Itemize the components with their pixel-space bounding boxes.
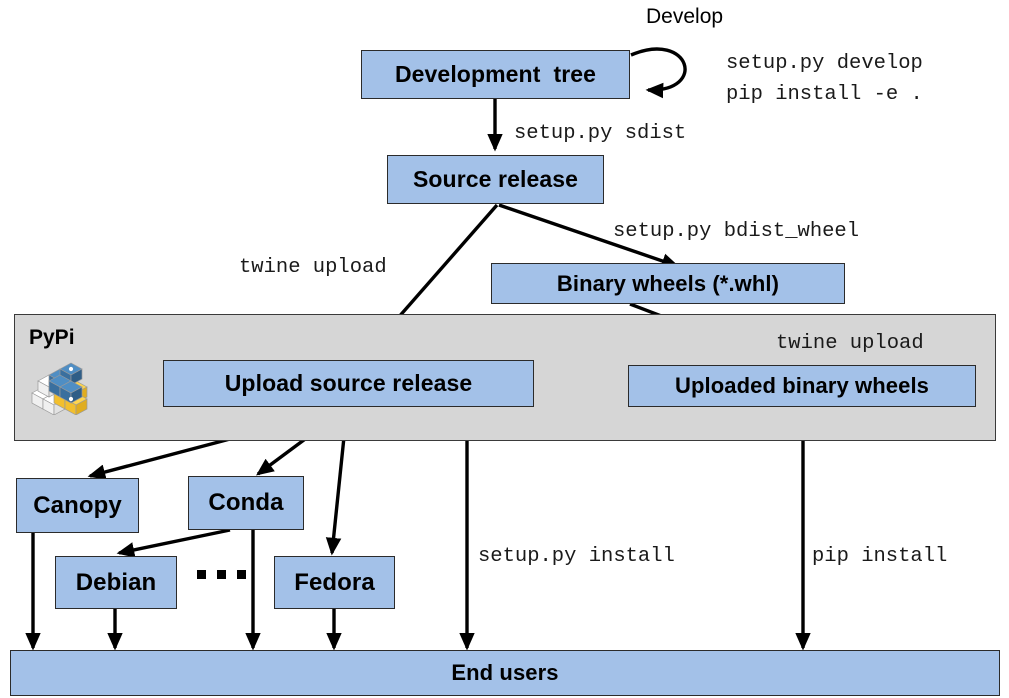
node-label-source-release: Source release: [413, 166, 578, 193]
label-setup-install: setup.py install: [478, 545, 675, 568]
label-setup-bdist-wheel: setup.py bdist_wheel: [613, 220, 859, 243]
label-twine-upload-whl: twine upload: [776, 332, 924, 355]
edge-develop-selfloop: [631, 49, 685, 90]
packaging-flow-diagram: PyPi: [0, 0, 1009, 698]
ellipsis-dot: [237, 570, 246, 579]
node-debian: Debian: [55, 556, 177, 609]
label-setup-develop: setup.py develop: [726, 52, 923, 75]
node-label-debian: Debian: [76, 569, 157, 597]
node-label-uploaded-binary-wheels: Uploaded binary wheels: [675, 373, 929, 399]
node-development-tree: Development tree: [361, 50, 630, 99]
label-pip-install-e: pip install -e .: [726, 83, 923, 106]
node-label-development-tree: Development tree: [395, 61, 596, 88]
node-label-fedora: Fedora: [294, 569, 375, 597]
node-binary-wheels: Binary wheels (*.whl): [491, 263, 845, 304]
label-develop: Develop: [646, 5, 723, 29]
node-upload-source-release: Upload source release: [163, 360, 534, 407]
node-fedora: Fedora: [274, 556, 395, 609]
node-label-canopy: Canopy: [33, 492, 122, 520]
label-twine-upload-src: twine upload: [239, 256, 387, 279]
node-uploaded-binary-wheels: Uploaded binary wheels: [628, 365, 976, 407]
node-label-end-users: End users: [451, 660, 558, 686]
ellipsis-dot: [197, 570, 206, 579]
node-label-binary-wheels: Binary wheels (*.whl): [557, 271, 779, 297]
node-label-conda: Conda: [208, 489, 283, 517]
label-pip-install: pip install: [812, 545, 947, 568]
pypi-group-title: PyPi: [29, 326, 75, 350]
more-distros-ellipsis: [197, 570, 246, 579]
node-end-users: End users: [10, 650, 1000, 696]
node-canopy: Canopy: [16, 478, 139, 533]
node-label-upload-source-release: Upload source release: [225, 370, 473, 397]
ellipsis-dot: [217, 570, 226, 579]
node-source-release: Source release: [387, 155, 604, 204]
edge-conda-to-debian: [119, 530, 230, 553]
label-setup-sdist: setup.py sdist: [514, 122, 686, 145]
pypi-logo-icon: [30, 355, 92, 420]
node-conda: Conda: [188, 476, 304, 530]
